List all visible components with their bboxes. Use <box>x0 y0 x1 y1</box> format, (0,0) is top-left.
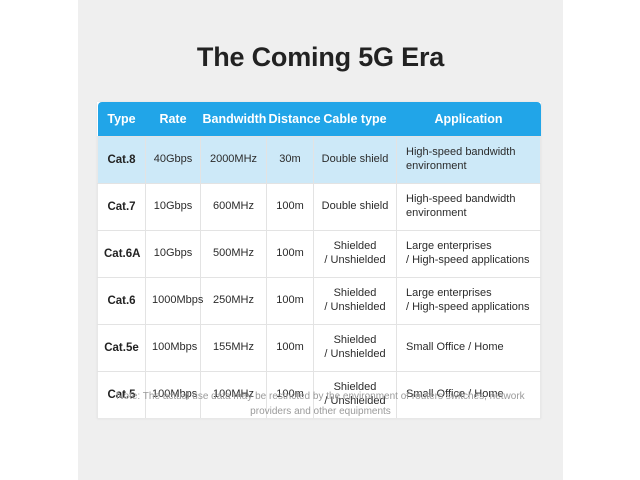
cell-distance: 100m <box>267 325 314 372</box>
cell-rate: 10Gbps <box>146 231 201 278</box>
table-header: TypeRateBandwidthDistanceCable typeAppli… <box>98 102 541 137</box>
cell-distance: 100m <box>267 278 314 325</box>
table-row[interactable]: Cat.5e100Mbps155MHz100mShielded/ Unshiel… <box>98 325 541 372</box>
table-row[interactable]: Cat.840Gbps2000MHz30mDouble shieldHigh-s… <box>98 137 541 184</box>
cell-cable: Double shield <box>314 184 397 231</box>
cell-bandwidth: 600MHz <box>201 184 267 231</box>
cell-type: Cat.7 <box>98 184 146 231</box>
cell-bandwidth: 2000MHz <box>201 137 267 184</box>
cell-app: High-speed bandwidthenvironment <box>397 137 541 184</box>
cell-type: Cat.5e <box>98 325 146 372</box>
cell-app: High-speed bandwidthenvironment <box>397 184 541 231</box>
content-panel: The Coming 5G Era TypeRateBandwidthDista… <box>78 0 563 480</box>
table-row[interactable]: Cat.710Gbps600MHz100mDouble shieldHigh-s… <box>98 184 541 231</box>
table-note: Note: The actual use data may be restric… <box>108 390 533 419</box>
cell-bandwidth: 155MHz <box>201 325 267 372</box>
column-header-rate[interactable]: Rate <box>146 102 201 137</box>
cell-distance: 30m <box>267 137 314 184</box>
cell-cable: Shielded/ Unshielded <box>314 325 397 372</box>
cell-rate: 40Gbps <box>146 137 201 184</box>
cell-type: Cat.6 <box>98 278 146 325</box>
column-header-bandwidth[interactable]: Bandwidth <box>201 102 267 137</box>
content-inner: The Coming 5G Era TypeRateBandwidthDista… <box>78 0 563 480</box>
cell-cable: Shielded/ Unshielded <box>314 231 397 278</box>
cell-bandwidth: 500MHz <box>201 231 267 278</box>
cell-type: Cat.6A <box>98 231 146 278</box>
cell-cable: Double shield <box>314 137 397 184</box>
cell-distance: 100m <box>267 231 314 278</box>
table-row[interactable]: Cat.61000Mbps250MHz100mShielded/ Unshiel… <box>98 278 541 325</box>
column-header-app[interactable]: Application <box>397 102 541 137</box>
table-row[interactable]: Cat.6A10Gbps500MHz100mShielded/ Unshield… <box>98 231 541 278</box>
page-title: The Coming 5G Era <box>78 42 563 73</box>
column-header-distance[interactable]: Distance <box>267 102 314 137</box>
cell-rate: 10Gbps <box>146 184 201 231</box>
cell-cable: Shielded/ Unshielded <box>314 278 397 325</box>
cell-app: Small Office / Home <box>397 325 541 372</box>
cell-rate: 1000Mbps <box>146 278 201 325</box>
cell-distance: 100m <box>267 184 314 231</box>
table-body: Cat.840Gbps2000MHz30mDouble shieldHigh-s… <box>98 137 541 419</box>
cell-type: Cat.8 <box>98 137 146 184</box>
ethernet-cable-comparison-table: TypeRateBandwidthDistanceCable typeAppli… <box>97 102 541 419</box>
cell-app: Large enterprises/ High-speed applicatio… <box>397 278 541 325</box>
cell-bandwidth: 250MHz <box>201 278 267 325</box>
cell-rate: 100Mbps <box>146 325 201 372</box>
cell-app: Large enterprises/ High-speed applicatio… <box>397 231 541 278</box>
column-header-cable[interactable]: Cable type <box>314 102 397 137</box>
column-header-type[interactable]: Type <box>98 102 146 137</box>
table-header-row: TypeRateBandwidthDistanceCable typeAppli… <box>98 102 541 137</box>
screenshot-stage: The Coming 5G Era TypeRateBandwidthDista… <box>0 0 640 480</box>
